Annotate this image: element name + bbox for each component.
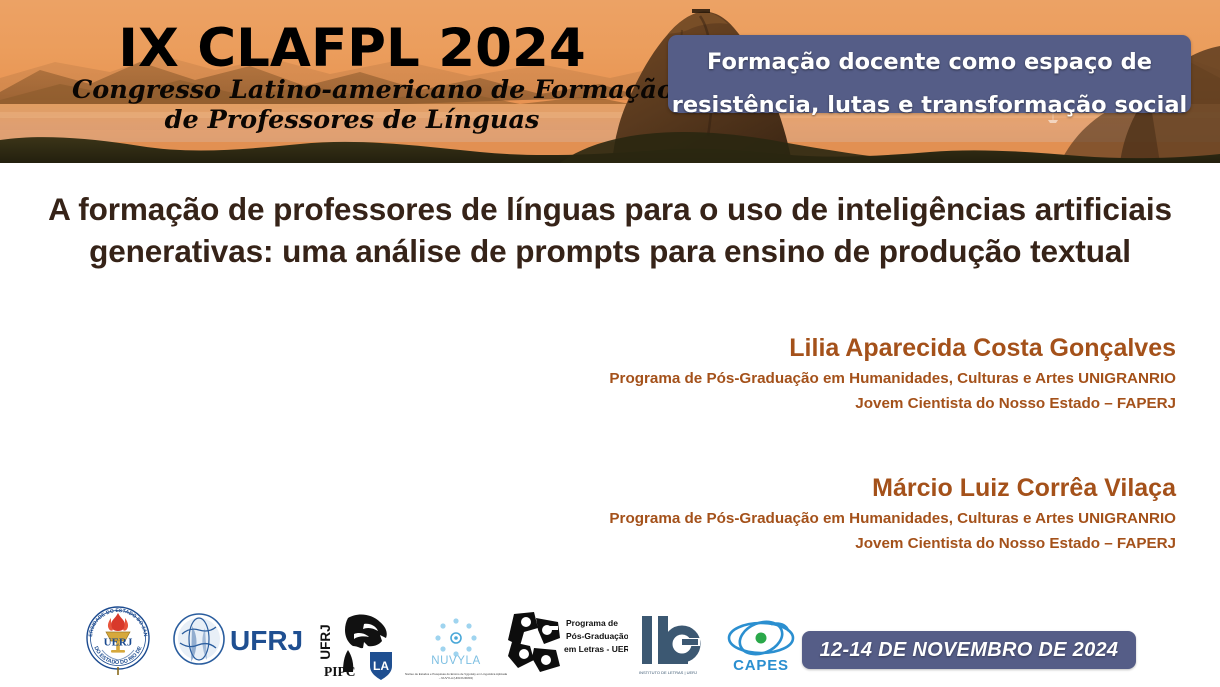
theme-line-1: Formação docente como espaço de (668, 49, 1191, 75)
conference-subtitle-line-2: de Professores de Línguas (72, 105, 632, 135)
author-name: Lilia Aparecida Costa Gonçalves (609, 333, 1176, 364)
uerj-caption: UERJ (104, 637, 133, 649)
capes-caption: CAPES (733, 657, 789, 674)
date-badge: 12-14 DE NOVEMBRO DE 2024 (802, 631, 1136, 669)
conference-acronym: IX CLAFPL 2024 (72, 22, 632, 75)
conference-subtitle-line-1: Congresso Latino-americano de Formação (72, 75, 632, 105)
theme-line-2: resistência, lutas e transformação socia… (668, 92, 1191, 118)
ppg-caption-3: em Letras - UERJ (564, 644, 628, 654)
date-badge-text: 12-14 DE NOVEMBRO DE 2024 (802, 631, 1136, 669)
page-title: A formação de professores de línguas par… (20, 189, 1200, 272)
pipcla-logo: UFRJ LA PIPC (318, 606, 404, 687)
ile-subtitle: INSTITUTO DE LETRAS | UERJ (639, 670, 697, 675)
author-block-1: Lilia Aparecida Costa Gonçalves Programa… (609, 333, 1176, 417)
author-affiliation-program: Programa de Pós-Graduação em Humanidades… (609, 507, 1176, 532)
pipcla-ufrj-text: UFRJ (318, 624, 333, 659)
conference-logo: IX CLAFPL 2024 Congresso Latino-american… (72, 22, 632, 135)
header-banner: IX CLAFPL 2024 Congresso Latino-american… (0, 0, 1220, 163)
capes-logo: CAPES (720, 614, 802, 681)
uerj-logo: UNIVERSIDADE DO ESTADO DO JANEIRO DO EST… (80, 598, 156, 685)
author-affiliation-grant: Jovem Cientista do Nosso Estado – FAPERJ (609, 392, 1176, 417)
ufrj-caption: UFRJ (230, 625, 303, 656)
ufrj-logo: UFRJ (172, 612, 304, 673)
ppg-letras-logo: Programa de Pós-Graduação em Letras - UE… (500, 608, 628, 683)
ppg-caption-1: Programa de (566, 618, 618, 628)
ile-logo: INSTITUTO DE LETRAS | UERJ (638, 612, 704, 683)
author-block-2: Márcio Luiz Corrêa Vilaça Programa de Pó… (609, 473, 1176, 557)
ppg-caption-2: Pós-Graduação (566, 631, 628, 641)
nuvyla-caption: NUVYLA (431, 655, 481, 667)
svg-text:UNIVERSIDADE DO ESTADO DO JANE: UNIVERSIDADE DO ESTADO DO JANEIRO (80, 598, 148, 637)
nuvyla-logo: NUVYLA Núcleo de Estudos e Pesquisas do … (414, 616, 508, 680)
pipcla-shield-text: LA (373, 659, 389, 673)
author-affiliation-program: Programa de Pós-Graduação em Humanidades… (609, 367, 1176, 392)
nuvyla-subtitle: Núcleo de Estudos e Pesquisas do Ensino … (404, 672, 508, 680)
author-affiliation-grant: Jovem Cientista do Nosso Estado – FAPERJ (609, 532, 1176, 557)
author-name: Márcio Luiz Corrêa Vilaça (609, 473, 1176, 504)
pipcla-caption: PIPC (324, 664, 356, 679)
